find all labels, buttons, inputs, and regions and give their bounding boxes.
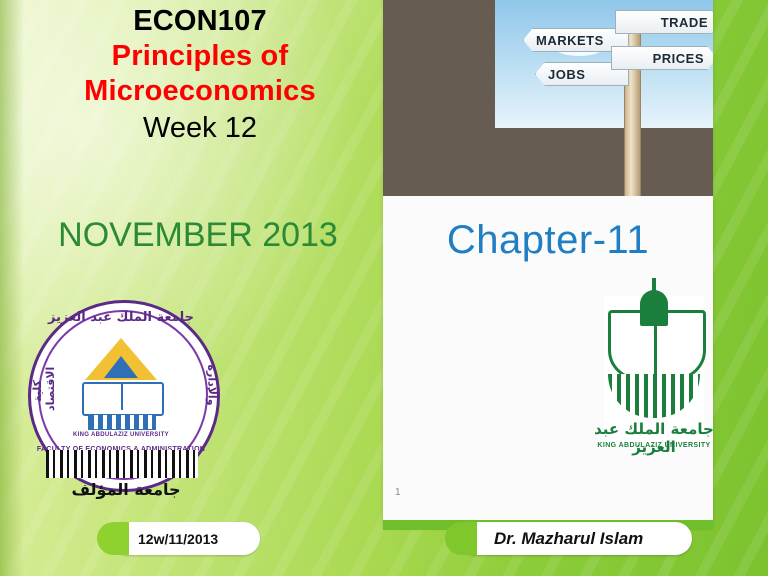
- presentation-date: NOVEMBER 2013: [18, 215, 378, 255]
- course-title-line-2: Microeconomics: [24, 74, 376, 109]
- seal-arabic-left: كلية الاقتصاد: [31, 371, 57, 411]
- footer-author-pill: Dr. Mazharul Islam: [460, 522, 692, 555]
- seal-arabic-right: والإدارة: [206, 365, 219, 405]
- seal-arabic-top: جامعة الملك عبد العزيز: [28, 310, 214, 325]
- title-block: ECON107 Principles of Microeconomics Wee…: [24, 4, 376, 147]
- seal-book-icon: [82, 382, 164, 416]
- sign-trade: TRADE: [615, 10, 713, 34]
- faculty-seal: جامعة الملك عبد العزيز كلية الاقتصاد وال…: [28, 300, 228, 510]
- footer-date-pill: 12w/11/2013: [112, 522, 260, 555]
- background-left-edge: [0, 0, 24, 576]
- week-label: Week 12: [24, 109, 376, 147]
- presentation-slide: ECON107 Principles of Microeconomics Wee…: [0, 0, 768, 576]
- logo-arabic-name: جامعة الملك عبد العزيز: [590, 420, 718, 456]
- university-logo: جامعة الملك عبد العزيز KING ABDULAZIZ UN…: [590, 296, 718, 482]
- logo-rays-icon: [608, 374, 700, 418]
- content-panel: MARKETS TRADE JOBS PRICES Chapter-11 جام…: [383, 0, 713, 528]
- seal-bars-icon: [88, 414, 156, 430]
- chapter-title: Chapter-11: [383, 218, 713, 263]
- sign-prices: PRICES: [611, 46, 713, 70]
- seal-caption: جامعة المؤلف: [28, 480, 224, 499]
- seal-english-small: KING ABDULAZIZ UNIVERSITY: [28, 432, 214, 438]
- footer-date-text: 12w/11/2013: [112, 531, 236, 547]
- signpost-photo: MARKETS TRADE JOBS PRICES: [383, 0, 713, 196]
- logo-english-name: KING ABDULAZIZ UNIVERSITY: [590, 442, 718, 449]
- seal-crest-icon: [74, 338, 168, 430]
- seal-triangle-inner-icon: [104, 356, 138, 378]
- slide-number: 1: [395, 487, 401, 498]
- course-code: ECON107: [24, 4, 376, 39]
- logo-book-icon: [608, 310, 706, 380]
- footer-author-text: Dr. Mazharul Islam: [460, 529, 661, 549]
- seal-barcode-decoration: [46, 450, 198, 478]
- course-title-line-1: Principles of: [24, 39, 376, 74]
